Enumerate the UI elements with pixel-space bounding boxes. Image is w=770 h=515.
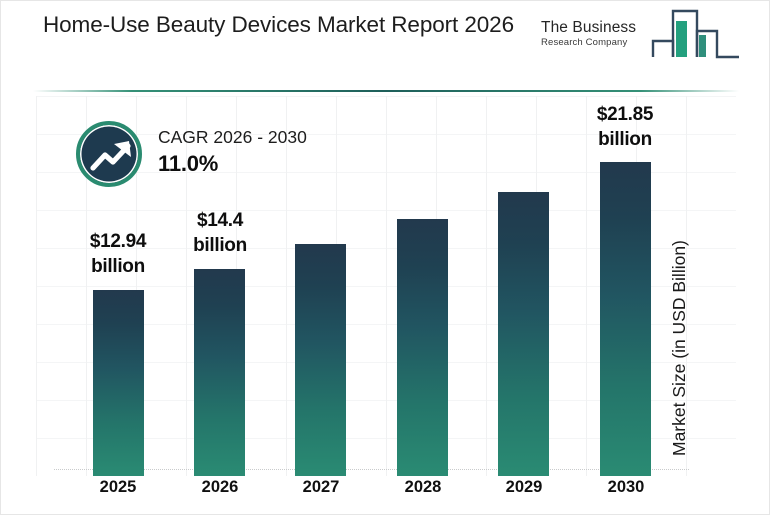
bar-2025[interactable] [93,290,144,476]
cagr-value-label: 11.0% [158,149,408,179]
bar-2026[interactable] [194,269,245,476]
cagr-badge [76,121,142,187]
logo-line-2: Research Company [541,36,661,49]
header-divider [33,90,739,92]
bar-label-2026: $14.4 billion [160,208,280,258]
page-title: Home-Use Beauty Devices Market Report 20… [43,9,523,41]
bar-2028[interactable] [397,219,448,476]
bar-label-2030-line1: $21.85 [565,102,685,127]
bar-chart-logo-mark-icon [651,7,741,68]
bar-label-2026-line2: billion [160,233,280,258]
cagr-period-label: CAGR 2026 - 2030 [158,125,408,149]
x-tick-2030: 2030 [566,478,686,497]
y-axis-title-text: Market Size (in USD Billion) [669,156,690,456]
logo-wordmark: The Business Research Company [541,19,661,49]
bar-label-2026-line1: $14.4 [160,208,280,233]
bar-2027[interactable] [295,244,346,476]
infographic-canvas: Home-Use Beauty Devices Market Report 20… [0,0,770,515]
x-axis-baseline [54,469,689,470]
bar-2030[interactable] [600,162,651,476]
y-axis-title: Market Size (in USD Billion) [669,0,695,156]
bar-label-2030-line2: billion [565,127,685,152]
cagr-text-group: CAGR 2026 - 2030 11.0% [158,125,408,179]
bar-2029[interactable] [498,192,549,476]
logo-line-1: The Business [541,19,661,36]
bar-chart: $12.94 billion $14.4 billion $21.85 bill… [36,96,736,476]
company-logo: The Business Research Company [541,7,741,69]
header: Home-Use Beauty Devices Market Report 20… [1,1,770,89]
bar-label-2030: $21.85 billion [565,102,685,152]
trending-up-icon [90,137,136,179]
